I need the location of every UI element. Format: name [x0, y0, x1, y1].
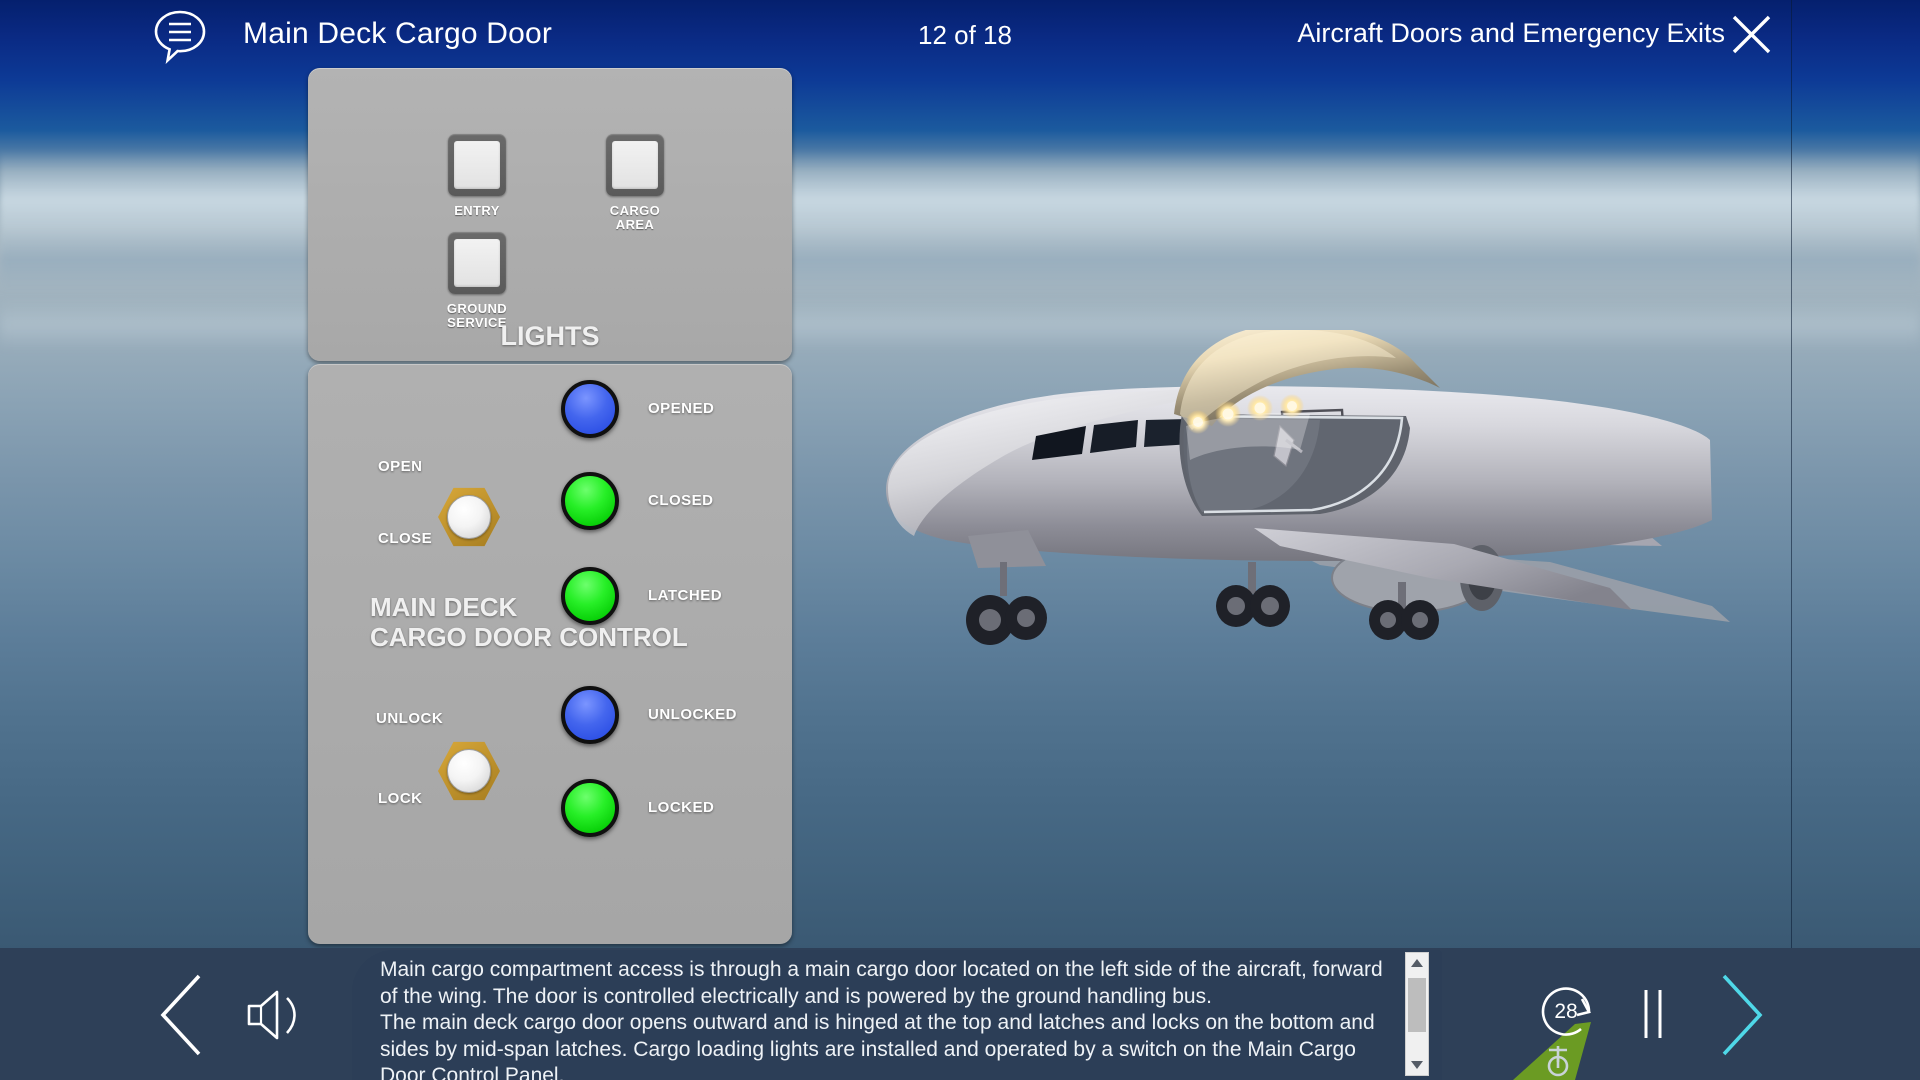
open-label: OPEN	[378, 458, 423, 475]
entry-light-button[interactable]	[448, 134, 506, 196]
speaker-icon[interactable]	[245, 986, 307, 1044]
closed-indicator-label: CLOSED	[648, 492, 714, 509]
lock-label: LOCK	[378, 790, 423, 807]
caption-scrollbar[interactable]	[1405, 952, 1429, 1076]
cargo-door-control-panel: OPEN CLOSE MAIN DECK CARGO DOOR CONTROL …	[308, 364, 792, 944]
lights-panel: ENTRY CARGO AREA GROUND SERVICE LIGHTS	[308, 68, 792, 361]
page-indicator: 12 of 18	[910, 20, 1020, 51]
button-face	[454, 141, 500, 189]
latched-indicator-lamp[interactable]	[561, 567, 619, 625]
bottom-control-bar: Main cargo compartment access is through…	[0, 948, 1920, 1080]
replay-count: 28	[1533, 1000, 1599, 1024]
caption-text: Main cargo compartment access is through…	[380, 957, 1390, 1080]
pause-icon[interactable]	[1640, 988, 1666, 1040]
page-title: Main Deck Cargo Door	[243, 17, 552, 51]
opened-indicator-label: OPENED	[648, 400, 714, 417]
switch-knob	[447, 495, 491, 539]
button-face	[612, 141, 658, 189]
aircraft-illustration	[850, 330, 1730, 710]
close-icon[interactable]	[1729, 12, 1774, 57]
closed-indicator-lamp[interactable]	[561, 472, 619, 530]
latched-indicator-label: LATCHED	[648, 587, 722, 604]
close-label: CLOSE	[378, 530, 432, 547]
locked-indicator-lamp[interactable]	[561, 779, 619, 837]
button-face	[454, 239, 500, 287]
unlocked-indicator-lamp[interactable]	[561, 686, 619, 744]
header-bar: Main Deck Cargo Door 12 of 18 Aircraft D…	[0, 0, 1920, 72]
switch-knob	[447, 749, 491, 793]
unlock-label: UNLOCK	[376, 710, 443, 727]
lights-panel-title: LIGHTS	[308, 321, 792, 352]
chevron-left-icon[interactable]	[155, 972, 207, 1058]
scroll-up-arrow-icon[interactable]	[1406, 953, 1428, 974]
control-panel-title-line1: MAIN DECK	[370, 592, 517, 622]
scrollbar-thumb[interactable]	[1408, 978, 1426, 1032]
chevron-right-icon[interactable]	[1716, 972, 1768, 1058]
control-panel-title-line2: CARGO DOOR CONTROL	[370, 622, 688, 652]
scroll-down-arrow-icon[interactable]	[1406, 1054, 1428, 1075]
speech-bubble-icon[interactable]	[152, 8, 208, 64]
course-title: Aircraft Doors and Emergency Exits	[1297, 18, 1725, 49]
unlock-lock-switch[interactable]	[438, 740, 500, 802]
slide-viewer: Main Deck Cargo Door 12 of 18 Aircraft D…	[0, 0, 1920, 1080]
ground-service-light-button[interactable]	[448, 232, 506, 294]
unlocked-indicator-label: UNLOCKED	[648, 706, 737, 723]
entry-light-label: ENTRY	[418, 204, 536, 218]
caption-panel: Main cargo compartment access is through…	[352, 950, 1442, 1080]
opened-indicator-lamp[interactable]	[561, 380, 619, 438]
open-close-switch[interactable]	[438, 486, 500, 548]
right-divider-line	[1791, 0, 1792, 1080]
cargo-area-light-label: CARGO AREA	[576, 204, 694, 232]
locked-indicator-label: LOCKED	[648, 799, 714, 816]
cargo-area-light-button[interactable]	[606, 134, 664, 196]
cloud-haze-band	[0, 230, 1920, 290]
